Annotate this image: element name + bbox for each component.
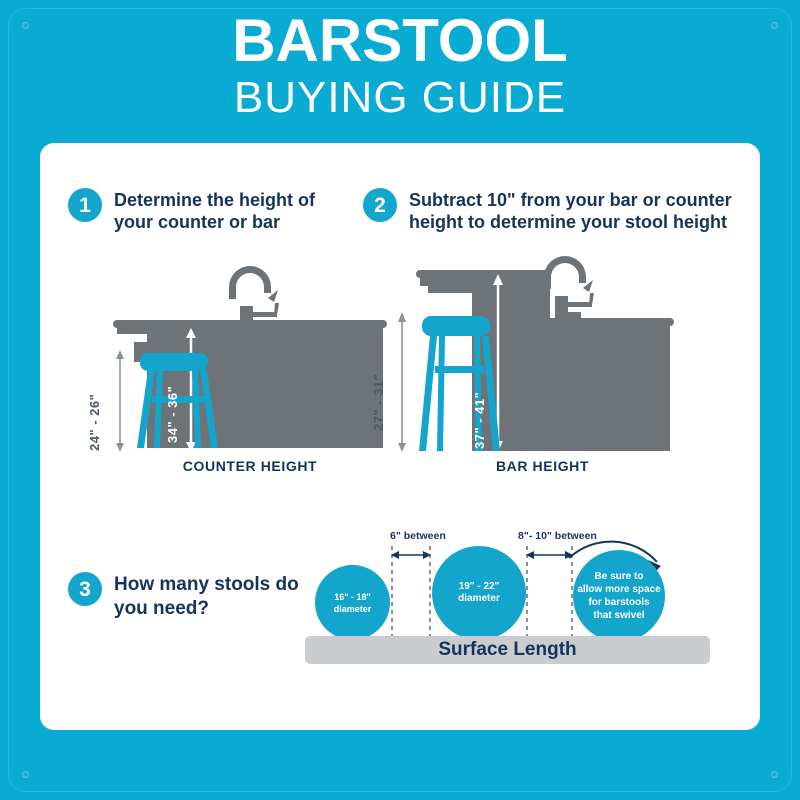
circle-a-unit: diameter <box>334 603 372 615</box>
bar-height-caption: BAR HEIGHT <box>390 458 695 474</box>
step-3-header: 3 How many stools do you need? <box>68 572 318 621</box>
stool-circle-small: 16" - 18" diameter <box>315 565 390 640</box>
bar-stool-arrow-head-down <box>398 443 406 452</box>
gap-1-extension-lines <box>392 546 430 638</box>
counter-height-diagram: 24" - 26" 34" - 36" COUNTER HEIGHT <box>100 248 400 483</box>
surface-length-bar: Surface Length <box>305 636 710 664</box>
gap-2-label: 8"- 10" between <box>518 530 597 542</box>
step-2-badge: 2 <box>363 188 397 222</box>
stool-circle-swivel-note: Be sure to allow more space for barstool… <box>573 550 665 642</box>
infographic-canvas: BARSTOOL BUYING GUIDE 1 Determine the he… <box>0 0 800 800</box>
bar-surface-height-label: 37" - 41" <box>472 392 487 449</box>
step-2-label: Subtract 10" from your bar or counter he… <box>409 188 738 233</box>
circle-a-size: 16" - 18" <box>334 591 371 603</box>
bar-stool-height-label: 27" - 31" <box>371 374 386 431</box>
page-title: BARSTOOL <box>0 10 800 72</box>
step-1-badge: 1 <box>68 188 102 222</box>
stool-arrow-head-up <box>116 350 124 359</box>
bar-illustration <box>390 248 695 453</box>
swivel-note-line-1: Be sure to <box>595 570 644 583</box>
swivel-note-line-4: that swivel <box>593 609 644 622</box>
step-3-label: How many stools do you need? <box>114 572 318 621</box>
screw-icon-bottom-right <box>771 771 778 778</box>
counter-surface-height-label: 34" - 36" <box>165 386 180 443</box>
swivel-note-line-2: allow more space <box>577 583 660 596</box>
counter-height-caption: COUNTER HEIGHT <box>100 458 400 474</box>
counter-lip <box>113 320 387 328</box>
screw-icon-bottom-left <box>22 771 29 778</box>
step-1-header: 1 Determine the height of your counter o… <box>68 188 338 233</box>
gap-2-extension-lines <box>527 546 572 638</box>
header: BARSTOOL BUYING GUIDE <box>0 10 800 122</box>
step-1-label: Determine the height of your counter or … <box>114 188 338 233</box>
bar-stool-arrow-head-up <box>398 312 406 322</box>
circle-b-unit: diameter <box>458 593 500 605</box>
bar-height-diagram: 27" - 31" 37" - 41" BAR HEIGHT <box>390 248 695 483</box>
faucet-icon <box>544 256 594 320</box>
stool-circle-large: 19" - 22" diameter <box>432 546 526 640</box>
counter-stool-height-label: 24" - 26" <box>87 394 102 451</box>
step-3-badge: 3 <box>68 572 102 606</box>
stool-arrow-head-down <box>116 443 124 452</box>
swivel-note-line-3: for barstools <box>588 596 649 609</box>
circle-b-size: 19" - 22" <box>459 581 500 593</box>
page-subtitle: BUYING GUIDE <box>0 74 800 122</box>
lower-counter-body <box>550 318 670 451</box>
gap-1-label: 6" between <box>390 530 446 542</box>
counter-illustration <box>100 248 400 453</box>
stool-spacing-diagram: 6" between 8"- 10" between 16" - 18" dia… <box>305 528 710 660</box>
step-2-header: 2 Subtract 10" from your bar or counter … <box>363 188 738 233</box>
